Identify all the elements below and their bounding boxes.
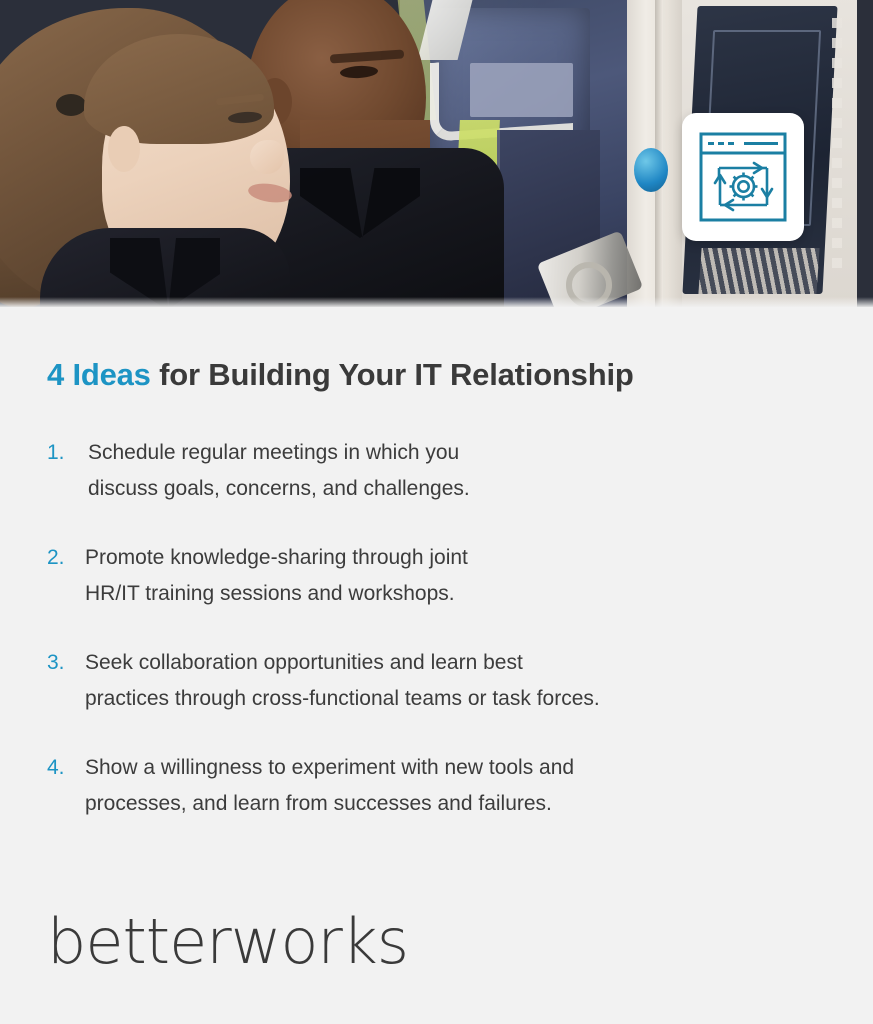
list-item-number: 1. bbox=[47, 435, 88, 471]
list-item-text: Seek collaboration opportunities and lea… bbox=[85, 645, 600, 717]
person-female-hair-tie bbox=[56, 94, 86, 116]
list-item-number: 2. bbox=[47, 540, 85, 576]
page-title-rest: for Building Your IT Relationship bbox=[151, 357, 634, 392]
console-vents bbox=[698, 248, 819, 294]
person-female-nose bbox=[250, 140, 284, 174]
hero-bottom-fade bbox=[0, 297, 873, 307]
person-female-ear bbox=[108, 126, 140, 172]
machine-chrome-trim bbox=[430, 53, 573, 142]
list-item-number: 3. bbox=[47, 645, 85, 681]
list-item-text: Show a willingness to experiment with ne… bbox=[85, 750, 574, 822]
betterworks-logo: betterworks bbox=[47, 905, 408, 978]
list-item: 1. Schedule regular meetings in which yo… bbox=[47, 435, 837, 507]
console-dash-strip bbox=[832, 18, 842, 268]
page-title-accent: 4 Ideas bbox=[47, 357, 151, 392]
browser-gear-cycle-badge bbox=[682, 113, 804, 241]
list-item-number: 4. bbox=[47, 750, 85, 786]
list-item: 4. Show a willingness to experiment with… bbox=[47, 750, 837, 822]
browser-gear-cycle-icon bbox=[697, 129, 789, 225]
machine-knob bbox=[634, 148, 668, 192]
infographic-card: 4 Ideas for Building Your IT Relationshi… bbox=[0, 0, 873, 1024]
list-item: 3. Seek collaboration opportunities and … bbox=[47, 645, 837, 717]
ideas-list: 1. Schedule regular meetings in which yo… bbox=[47, 435, 837, 855]
list-item-text: Schedule regular meetings in which you d… bbox=[88, 435, 470, 507]
page-title: 4 Ideas for Building Your IT Relationshi… bbox=[47, 357, 634, 393]
content-area: 4 Ideas for Building Your IT Relationshi… bbox=[0, 307, 873, 1024]
list-item-text: Promote knowledge-sharing through joint … bbox=[85, 540, 468, 612]
list-item: 2. Promote knowledge-sharing through joi… bbox=[47, 540, 837, 612]
